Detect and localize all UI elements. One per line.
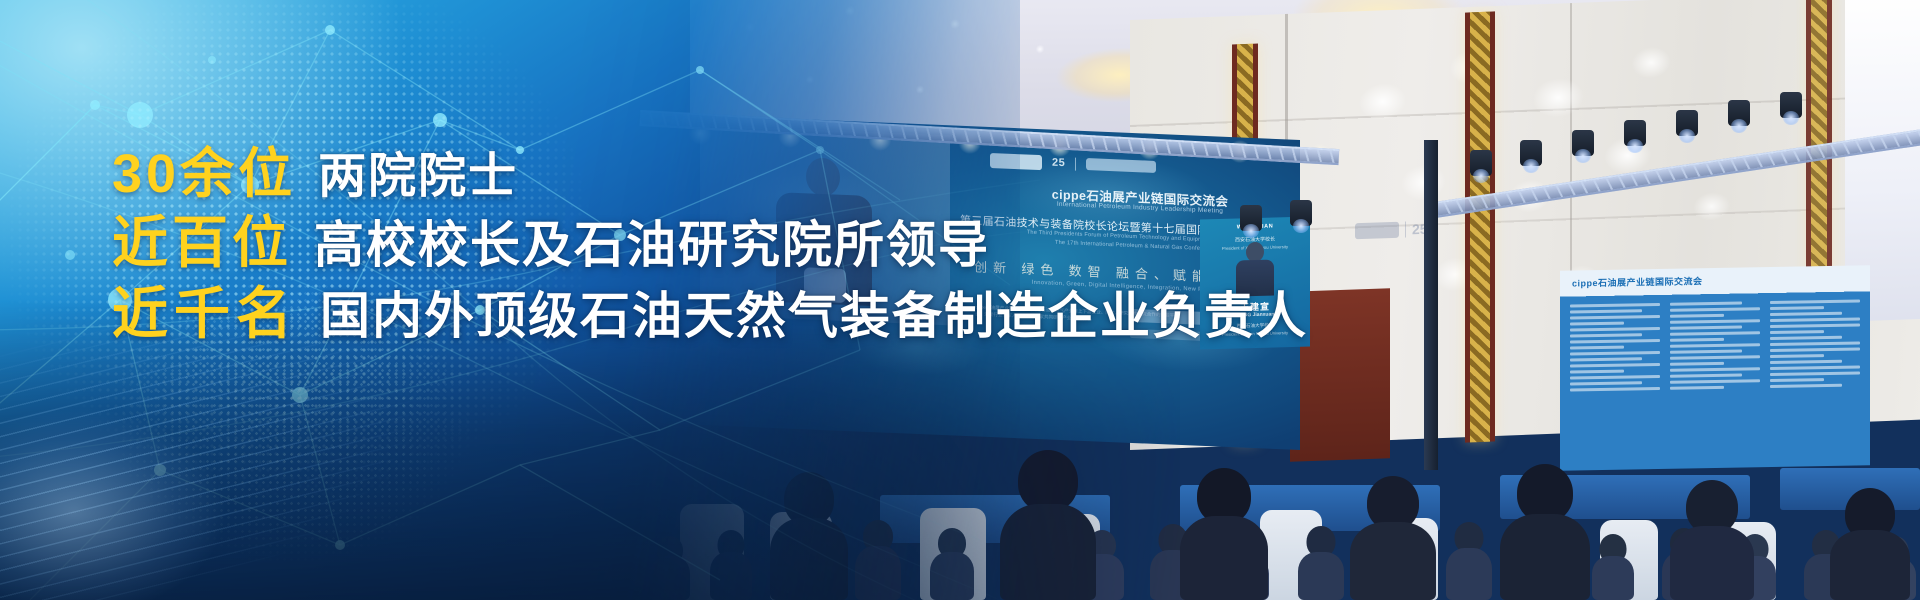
light-streak-glow bbox=[0, 330, 310, 600]
audience-member bbox=[1592, 534, 1634, 600]
stage-lamp bbox=[1624, 120, 1646, 146]
stat-description: 两院院士 bbox=[318, 150, 518, 204]
stat-line: 近百位 高校校长及石油研究院所领导 bbox=[112, 212, 1312, 275]
stage-lamp bbox=[1520, 140, 1542, 166]
stage-lamp bbox=[1676, 110, 1698, 136]
headline-stats-block: 30余位 两院院士 近百位 高校校长及石油研究院所领导 近千名 国内外顶级石油天… bbox=[112, 144, 1312, 346]
audience-member-front bbox=[1670, 480, 1754, 600]
stage-lamp bbox=[1470, 150, 1492, 176]
stat-line: 近千名 国内外顶级石油天然气装备制造企业负责人 bbox=[112, 283, 1312, 346]
stat-description: 国内外顶级石油天然气装备制造企业负责人 bbox=[320, 288, 1308, 344]
audience-member bbox=[1298, 526, 1344, 600]
promo-banner: 25 25 cippe石油展产业链国际交流会 International Pet… bbox=[0, 0, 1920, 600]
stat-highlight: 30余位 bbox=[112, 144, 296, 204]
audience-member-front bbox=[1500, 464, 1590, 600]
audience-member bbox=[1446, 522, 1492, 600]
audience-member-front bbox=[1180, 468, 1268, 600]
stage-lamp bbox=[1780, 92, 1802, 118]
cippe-logo-icon bbox=[1355, 222, 1399, 240]
audience-member-front bbox=[1830, 488, 1910, 600]
stage-lamp bbox=[1572, 130, 1594, 156]
stat-description: 高校校长及石油研究院所领导 bbox=[314, 217, 990, 273]
wall-cippe-logo: 25 bbox=[1355, 221, 1428, 240]
divider bbox=[1405, 221, 1406, 237]
sponsor-board-title: cippe石油展产业链国际交流会 bbox=[1572, 274, 1703, 289]
audience-member-front bbox=[1350, 476, 1436, 600]
stat-highlight: 近千名 bbox=[112, 283, 298, 346]
stat-highlight: 近百位 bbox=[112, 212, 292, 275]
stage-lamp bbox=[1728, 100, 1750, 126]
stat-line: 30余位 两院院士 bbox=[112, 144, 1312, 204]
